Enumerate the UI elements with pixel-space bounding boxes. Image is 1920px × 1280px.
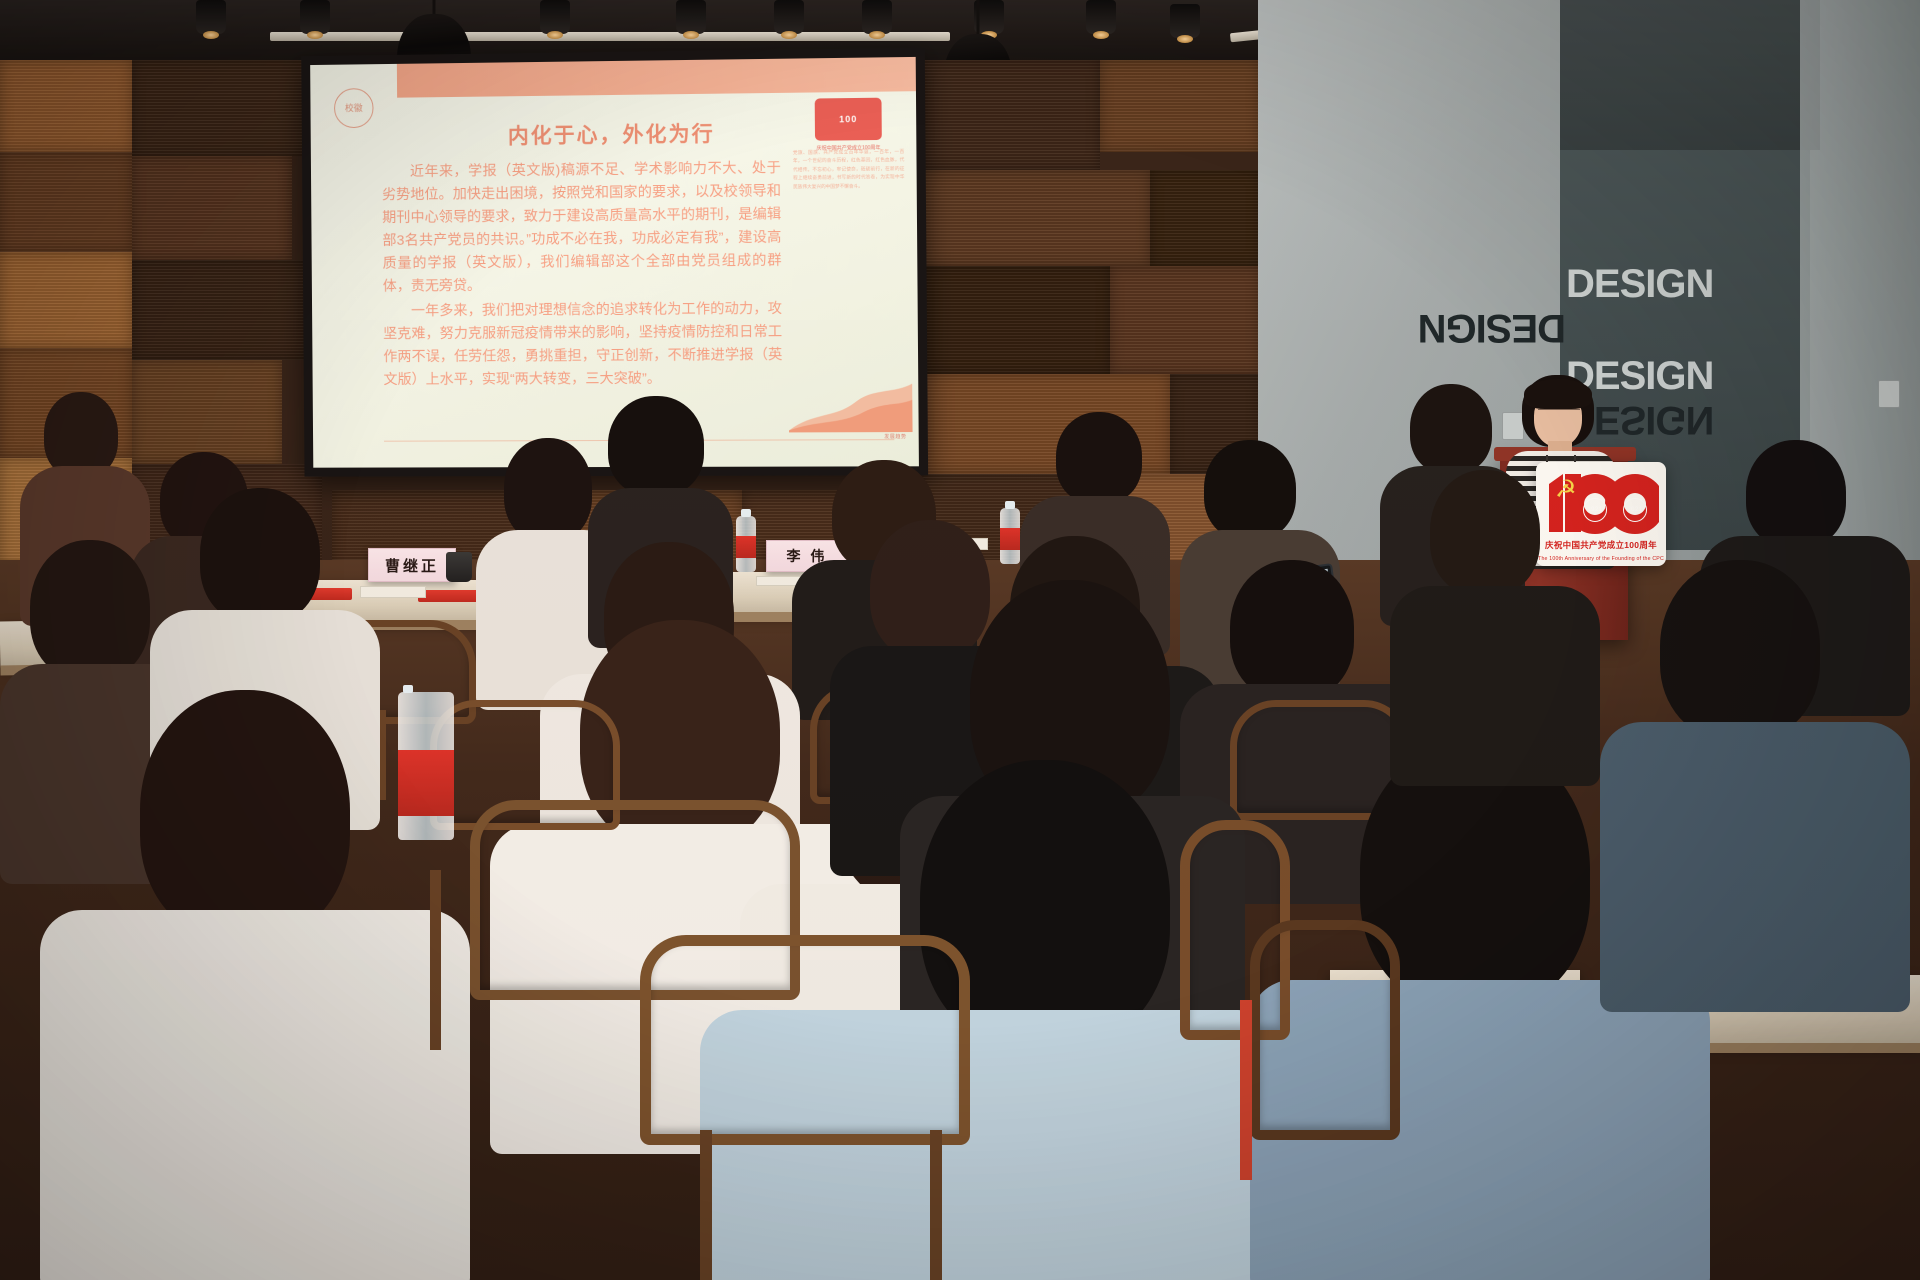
chair-leg	[930, 1130, 942, 1280]
power-outlet[interactable]	[1878, 380, 1900, 408]
audience-member	[1600, 560, 1900, 990]
track-spotlight-icon	[300, 0, 330, 34]
ceiling-rail-left	[270, 32, 950, 41]
slide-cpc-100-logo: 100 庆祝中国共产党成立100周年	[815, 98, 882, 141]
cpc-year-right: 2021	[1623, 498, 1647, 522]
track-spotlight-icon	[1170, 4, 1200, 38]
coffee-cup	[446, 552, 472, 582]
track-spotlight-icon	[676, 0, 706, 34]
name-placard: 曹继正	[368, 548, 456, 582]
chair	[1250, 920, 1400, 1140]
photo-scene: DESIGN DESIGN DESIGN DESIGN 校徽 内化于心，外化为行…	[0, 0, 1920, 1280]
chair	[640, 935, 970, 1145]
design-wall-text: DESIGN	[1419, 308, 1566, 348]
track-spotlight-icon	[1086, 0, 1116, 34]
design-wall-text: DESIGN	[1566, 264, 1713, 304]
slide-top-bar	[397, 57, 916, 98]
track-spotlight-icon	[774, 0, 804, 34]
slide-side-text: 党旗、国旗、共产党成立百年华诞，一百年，一百年，一个世纪的奋斗历程，红色基因，红…	[789, 148, 909, 192]
slide-hill-graphic	[789, 372, 913, 433]
presenter-fringe	[1524, 379, 1592, 409]
slide-body: 近年来，学报（英文版)稿源不足、学术影响力不大、处于劣势地位。加快走出困境，按照…	[382, 157, 783, 394]
audience-member	[1390, 470, 1590, 770]
slide-logo-digits: 100	[815, 98, 882, 141]
audience-member-foreground	[40, 690, 460, 1280]
presenter-glasses-icon	[1538, 409, 1580, 419]
track-spotlight-icon	[862, 0, 892, 34]
chair-leg	[430, 870, 441, 1050]
chair-leg	[1240, 1000, 1252, 1180]
ceiling-slab	[1560, 0, 1820, 150]
slide-paragraph: 近年来，学报（英文版)稿源不足、学术影响力不大、处于劣势地位。加快走出困境，按照…	[382, 157, 782, 298]
slide-side-column: 100 庆祝中国共产党成立100周年 党旗、国旗、共产党成立百年华诞，一百年，一…	[788, 97, 908, 191]
slide-paragraph: 一年多来，我们把对理想信念的追求转化为工作的动力，攻坚克难，努力克服新冠疫情带来…	[383, 298, 783, 392]
chair-leg	[700, 1130, 712, 1280]
water-bottle-foreground	[398, 692, 454, 840]
track-spotlight-icon	[196, 0, 226, 34]
track-spotlight-icon	[540, 0, 570, 34]
